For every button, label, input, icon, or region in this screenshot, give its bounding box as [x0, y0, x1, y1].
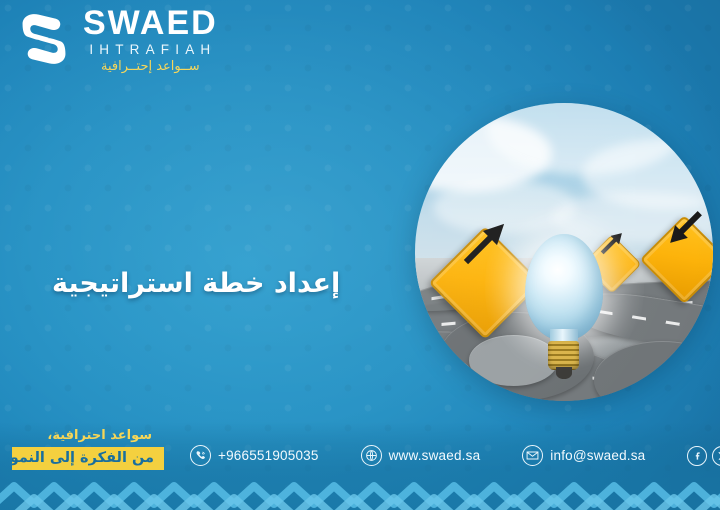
- footer-tagline: سواعد احترافية، من الفكرة إلى النمو إلى: [0, 428, 164, 470]
- contact-phone[interactable]: +966551905035: [190, 445, 319, 466]
- tagline-line-2-highlight: من الفكرة إلى النمو إلى: [12, 447, 164, 470]
- x-twitter-icon[interactable]: [712, 446, 720, 466]
- brand-name: SWAED: [83, 6, 218, 40]
- contact-email[interactable]: info@swaed.sa: [522, 445, 645, 466]
- globe-icon: [361, 445, 382, 466]
- facebook-icon[interactable]: [687, 446, 707, 466]
- lightbulb-icon: [525, 234, 602, 377]
- brand-arabic-name: ســواعد إحتــرافية: [101, 60, 200, 73]
- interlocking-links-icon: [14, 11, 74, 67]
- phone-icon: [190, 445, 211, 466]
- contact-website[interactable]: www.swaed.sa: [361, 445, 481, 466]
- bulb-screw-base: [548, 341, 579, 370]
- brand-logo-text: SWAED IHTRAFIAH ســواعد إحتــرافية: [83, 6, 218, 73]
- bulb-glass: [525, 234, 602, 340]
- contact-phone-label: +966551905035: [218, 448, 319, 463]
- chevron-pattern: [0, 480, 720, 510]
- envelope-icon: [522, 445, 543, 466]
- brand-latin-subtitle: IHTRAFIAH: [84, 43, 216, 57]
- footer-bar: سواعد احترافية، من الفكرة إلى النمو إلى …: [0, 422, 720, 510]
- contact-email-label: info@swaed.sa: [550, 448, 645, 463]
- tagline-line-1: سواعد احترافية،: [0, 428, 164, 443]
- banner-root: SWAED IHTRAFIAH ســواعد إحتــرافية إعداد…: [0, 0, 720, 510]
- page-title: إعداد خطة استراتيجية: [52, 268, 340, 299]
- bulb-contact-tip: [556, 367, 571, 378]
- hero-circle-image: [415, 103, 713, 401]
- brand-logo[interactable]: SWAED IHTRAFIAH ســواعد إحتــرافية: [14, 6, 218, 73]
- contact-website-label: www.swaed.sa: [389, 448, 481, 463]
- footer-social-links: swae: [687, 446, 720, 466]
- footer-contacts: +966551905035 www.swaed.sa: [190, 445, 720, 466]
- lightbulb-crossroads-photo: [415, 103, 713, 401]
